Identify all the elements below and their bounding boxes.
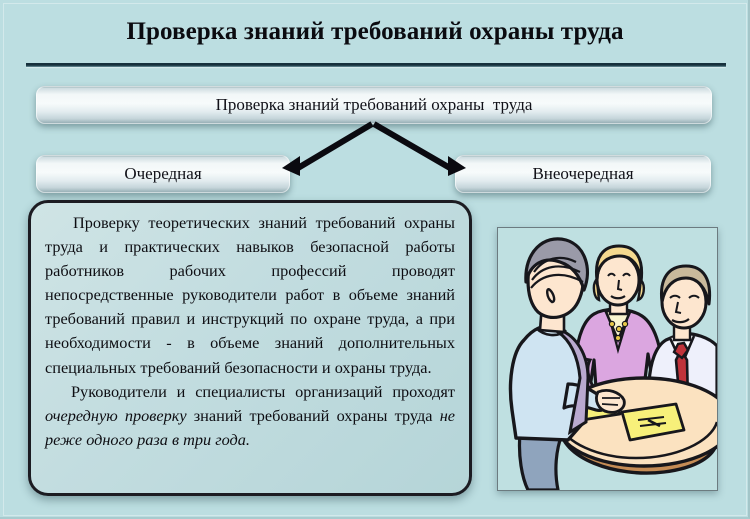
title-divider: [26, 63, 726, 67]
meeting-illustration: [497, 227, 718, 491]
paragraph-two-text-b: знаний требований охраны труда: [187, 406, 440, 425]
paragraph-two-emphasis-a: очередную проверку: [45, 406, 187, 425]
body-text-card: Проверку теоретических знаний требований…: [28, 200, 472, 496]
diagram-box-vneocherednaya[interactable]: Внеочередная: [455, 155, 711, 193]
slide-root: Проверка знаний требований охраны труда …: [0, 0, 750, 519]
paragraph-two: Руководители и специалисты организаций п…: [45, 380, 455, 452]
diagram-box-top-label: Проверка знаний требований охраны труда: [216, 95, 533, 115]
diagram-arrows-icon: [270, 120, 480, 190]
diagram-box-ocherednaya-label: Очередная: [124, 164, 201, 184]
paragraph-two-text-a: Руководители и специалисты организаций п…: [71, 382, 455, 401]
diagram-box-top[interactable]: Проверка знаний требований охраны труда: [36, 86, 712, 124]
paragraph-one: Проверку теоретических знаний требований…: [45, 211, 455, 380]
diagram-box-vneocherednaya-label: Внеочередная: [532, 164, 633, 184]
page-title: Проверка знаний требований охраны труда: [0, 18, 750, 46]
diagram-box-ocherednaya[interactable]: Очередная: [36, 155, 290, 193]
meeting-clipart-icon: [498, 228, 717, 490]
paragraph-one-text: Проверку теоретических знаний требований…: [45, 213, 455, 377]
